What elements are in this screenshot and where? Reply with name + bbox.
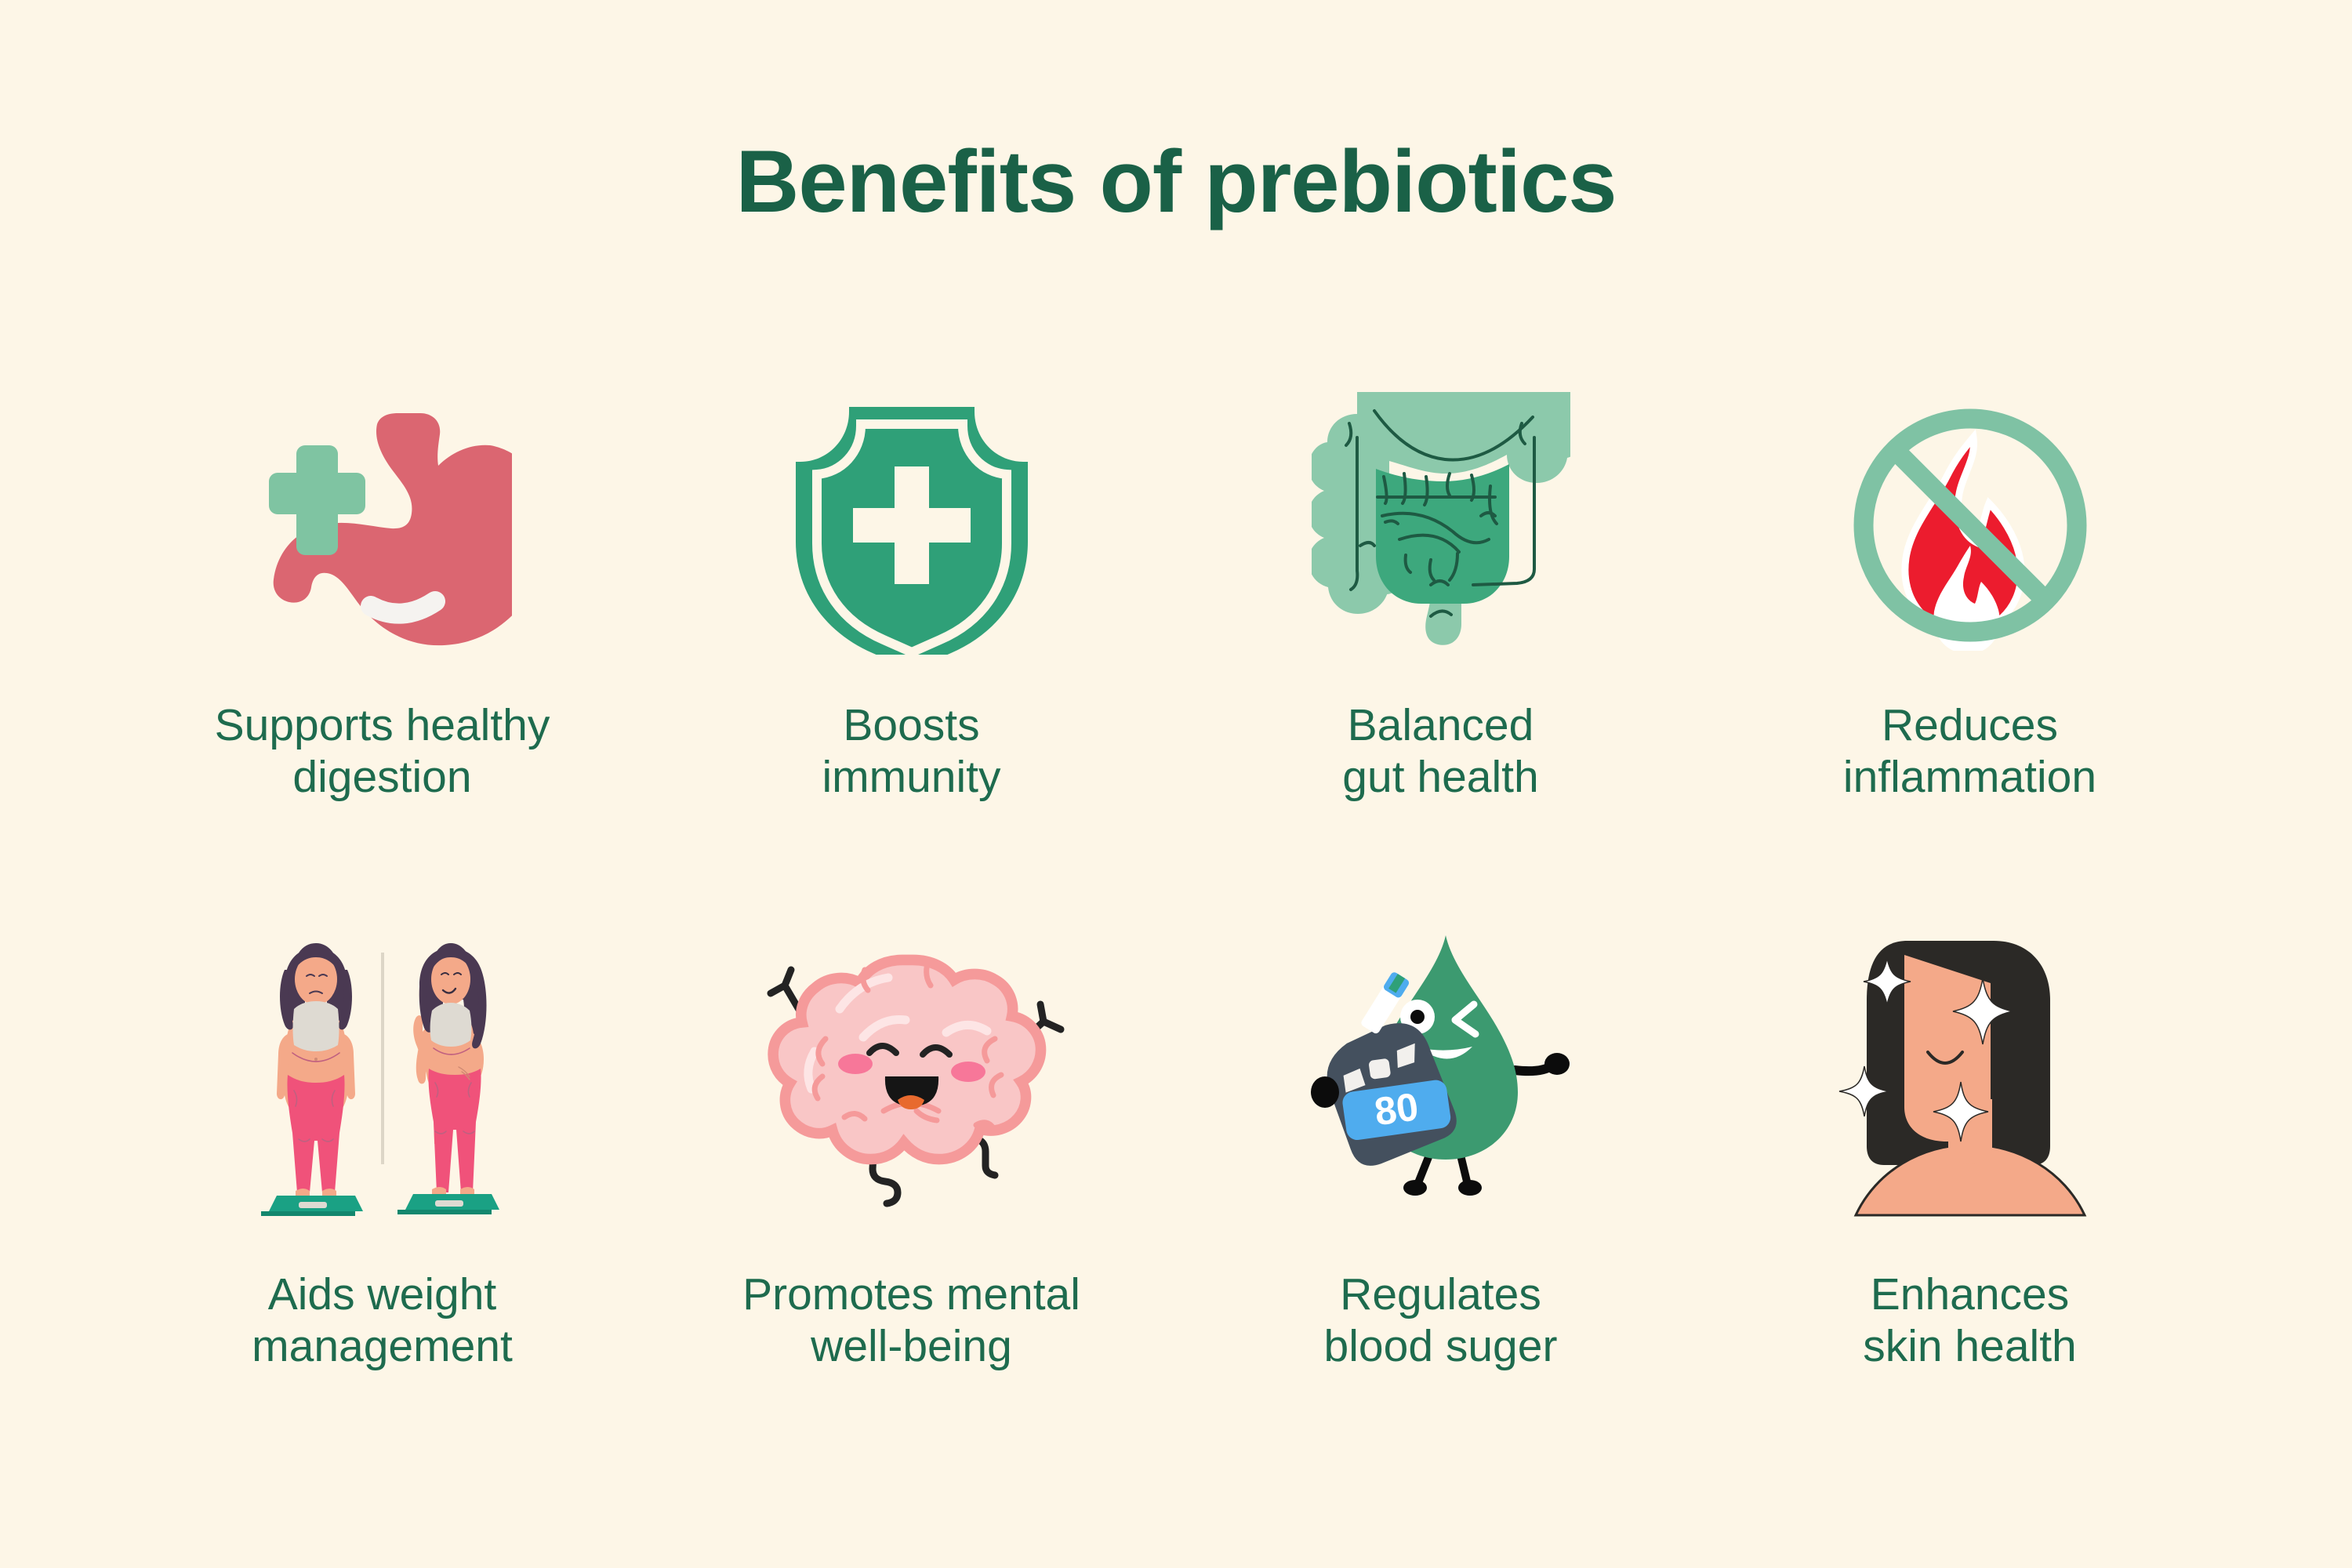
benefit-label: Supports healthy digestion — [215, 699, 550, 803]
icon-container — [647, 917, 1176, 1231]
benefit-card-promotes-mental-well-being: Promotes mental well-being — [647, 917, 1176, 1419]
weight-loss-women-icon — [245, 929, 520, 1219]
benefit-card-enhances-skin-health: Enhances skin health — [1705, 917, 2234, 1419]
benefit-label: Regulates blood suger — [1324, 1269, 1558, 1372]
benefit-label: Boosts immunity — [822, 699, 1000, 803]
benefit-label: Enhances skin health — [1863, 1269, 2077, 1372]
benefit-card-boosts-immunity: Boosts immunity — [647, 368, 1176, 870]
benefit-label: Promotes mental well-being — [742, 1269, 1080, 1372]
benefit-label: Aids weight management — [252, 1269, 513, 1372]
woman-before — [261, 943, 363, 1216]
glucometer-reading: 80 — [1371, 1084, 1421, 1134]
benefit-card-regulates-blood-sugar: 80 Regulates blood suger — [1176, 917, 1705, 1419]
benefit-card-reduces-inflammation: Reduces inflammation — [1705, 368, 2234, 870]
stomach-icon — [253, 396, 512, 655]
benefit-label: Reduces inflammation — [1843, 699, 2096, 803]
benefits-grid: Supports healthy digestion Boosts immuni… — [118, 368, 2234, 1419]
benefit-card-supports-healthy-digestion: Supports healthy digestion — [118, 368, 647, 870]
icon-container: 80 — [1176, 917, 1705, 1231]
blood-drop-glucometer-icon: 80 — [1308, 929, 1574, 1219]
woman-after — [397, 943, 499, 1214]
happy-brain-icon — [755, 937, 1069, 1211]
intestine-icon — [1312, 392, 1570, 659]
shield-cross-icon — [794, 396, 1029, 655]
benefit-card-aids-weight-management: Aids weight management — [118, 917, 647, 1419]
glowing-skin-woman-icon — [1837, 917, 2103, 1231]
icon-container — [647, 368, 1176, 682]
no-flame-icon — [1845, 400, 2096, 651]
benefit-card-balanced-gut-health: Balanced gut health — [1176, 368, 1705, 870]
infographic-page: Benefits of prebiotics Supports healthy … — [0, 0, 2352, 1568]
icon-container — [1176, 368, 1705, 682]
icon-container — [118, 917, 647, 1231]
page-title: Benefits of prebiotics — [0, 133, 2352, 230]
icon-container — [118, 368, 647, 682]
benefit-label: Balanced gut health — [1342, 699, 1538, 803]
icon-container — [1705, 917, 2234, 1231]
icon-container — [1705, 368, 2234, 682]
